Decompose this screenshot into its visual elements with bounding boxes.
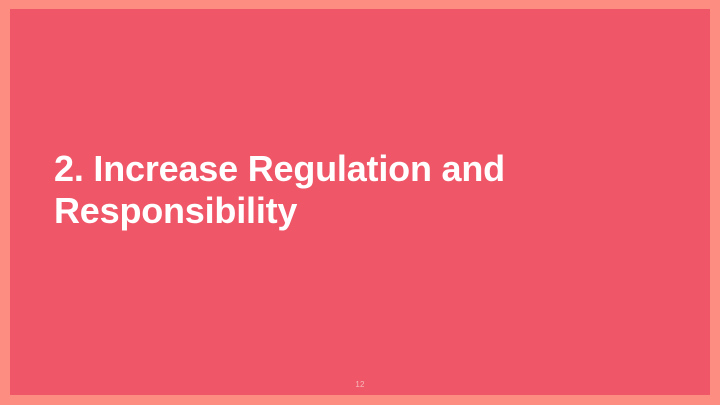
slide-canvas: 2. Increase Regulation and Responsibilit… [10, 9, 710, 395]
page-number: 12 [10, 379, 710, 391]
page-title: 2. Increase Regulation and Responsibilit… [54, 148, 574, 232]
slide-frame: 2. Increase Regulation and Responsibilit… [0, 0, 720, 405]
